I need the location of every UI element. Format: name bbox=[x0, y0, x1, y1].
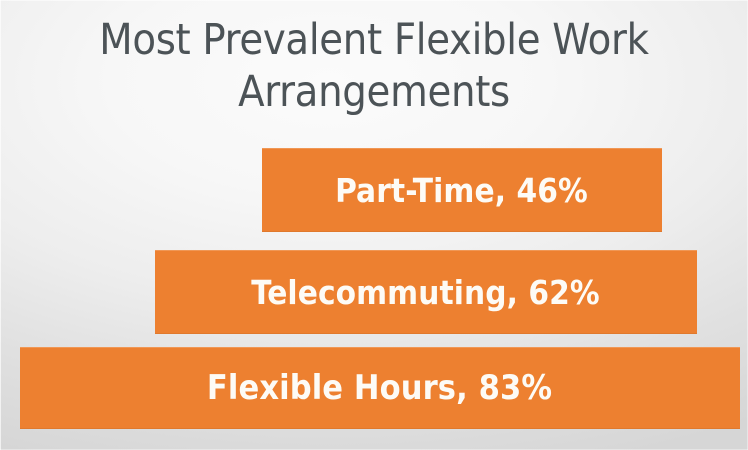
slide-canvas: Most Prevalent Flexible Work Arrangement… bbox=[0, 0, 748, 450]
bar-telecommuting[interactable]: Telecommuting, 62% bbox=[155, 250, 697, 334]
bar-gap bbox=[0, 232, 748, 250]
bar-flexible-hours[interactable]: Flexible Hours, 83% bbox=[20, 347, 740, 429]
bar-row: Part-Time, 46% bbox=[0, 148, 748, 232]
bar-label-flexible-hours: Flexible Hours, 83% bbox=[207, 371, 552, 405]
bar-part-time[interactable]: Part-Time, 46% bbox=[262, 148, 662, 232]
bar-label-telecommuting: Telecommuting, 62% bbox=[251, 276, 600, 309]
page-title: Most Prevalent Flexible Work Arrangement… bbox=[0, 14, 748, 119]
bar-label-part-time: Part-Time, 46% bbox=[335, 174, 588, 207]
bar-row: Flexible Hours, 83% bbox=[0, 347, 748, 429]
bar-gap bbox=[0, 334, 748, 347]
bar-row: Telecommuting, 62% bbox=[0, 250, 748, 334]
bar-chart: Part-Time, 46% Telecommuting, 62% Flexib… bbox=[0, 148, 748, 429]
